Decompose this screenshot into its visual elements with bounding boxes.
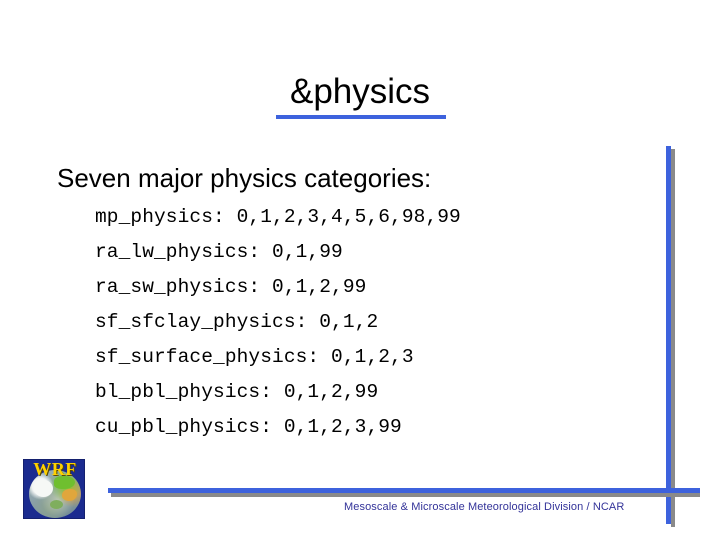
horizontal-rule: [108, 488, 700, 493]
list-item: ra_sw_physics: 0,1,2,99: [95, 270, 461, 305]
title-underline-rule: [276, 115, 446, 119]
title-block: &physics: [0, 72, 720, 112]
list-item: mp_physics: 0,1,2,3,4,5,6,98,99: [95, 200, 461, 235]
vertical-rule-shadow: [671, 149, 675, 527]
intro-text: Seven major physics categories:: [57, 163, 431, 193]
globe-land-shape-olive: [50, 500, 63, 509]
list-item: ra_lw_physics: 0,1,99: [95, 235, 461, 270]
list-item: sf_sfclay_physics: 0,1,2: [95, 305, 461, 340]
footer-attribution: Mesoscale & Microscale Meteorological Di…: [344, 500, 624, 514]
list-item: bl_pbl_physics: 0,1,2,99: [95, 375, 461, 410]
wrf-logo: WRF: [23, 459, 85, 519]
list-item: cu_pbl_physics: 0,1,2,3,99: [95, 410, 461, 445]
vertical-rule: [666, 146, 671, 524]
globe-cloud-shape: [34, 480, 53, 497]
page-title: &physics: [286, 72, 434, 112]
list-item: sf_surface_physics: 0,1,2,3: [95, 340, 461, 375]
horizontal-rule-shadow: [111, 493, 700, 497]
presentation-slide: &physics Seven major physics categories:…: [0, 0, 720, 540]
wrf-logo-label: WRF: [24, 460, 85, 479]
physics-options-list: mp_physics: 0,1,2,3,4,5,6,98,99 ra_lw_ph…: [95, 200, 461, 445]
